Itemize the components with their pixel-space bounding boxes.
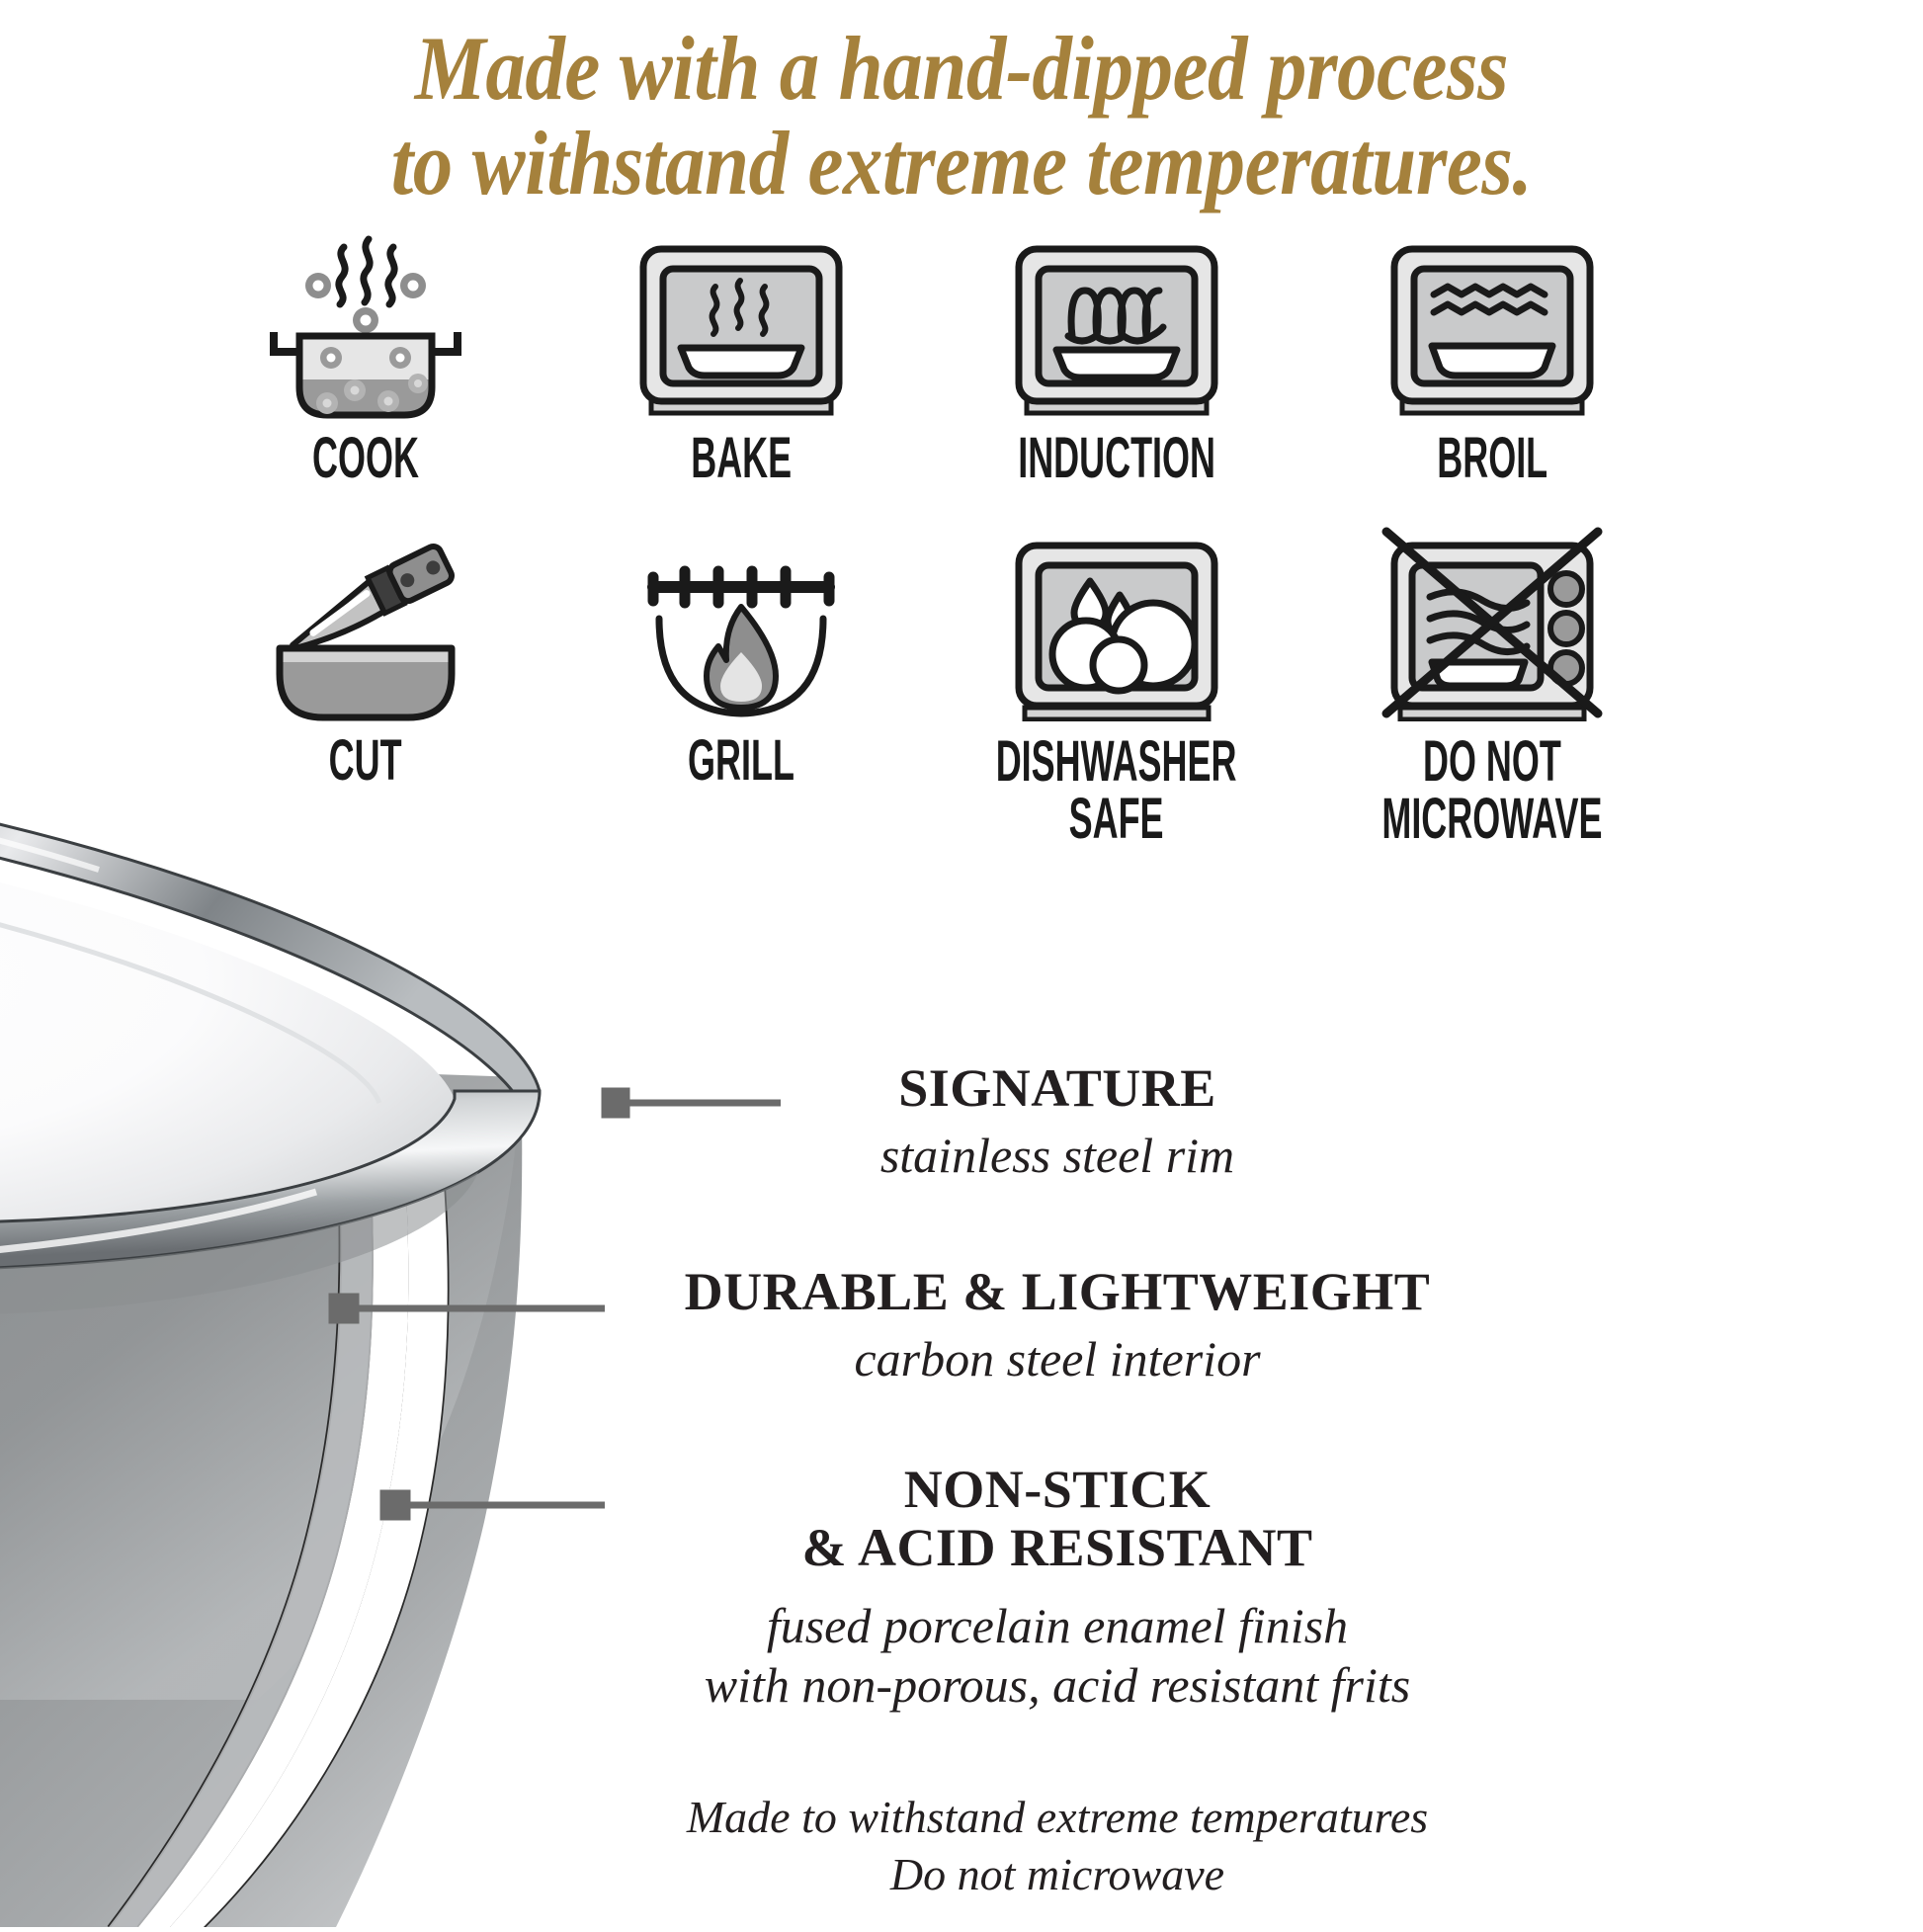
callout-signature: SIGNATURE stainless steel rim [751, 1059, 1364, 1185]
feature-cook: COOK [178, 229, 553, 486]
feature-do-not-microwave: DO NOT MICROWAVE [1304, 524, 1680, 848]
feature-dishwasher-safe: DISHWASHER SAFE [929, 524, 1304, 848]
callout-nonstick-subtitle-1: fused porcelain enamel finish [613, 1596, 1502, 1655]
broil-icon [1379, 229, 1606, 419]
induction-label: INDUCTION [1018, 431, 1215, 486]
headline-line-1: Made with a hand-dipped process [415, 18, 1508, 119]
feature-induction: INDUCTION [929, 229, 1304, 486]
callout-nonstick: NON-STICK & ACID RESISTANT fused porcela… [613, 1461, 1502, 1715]
bake-icon [627, 229, 855, 419]
cook-icon [252, 229, 479, 419]
callout-durable: DURABLE & LIGHTWEIGHT carbon steel inter… [613, 1263, 1502, 1388]
page-title: Made with a hand-dipped process to withs… [116, 22, 1807, 210]
callout-nonstick-title-2: & ACID RESISTANT [613, 1519, 1502, 1577]
disclaimer-line-1: Made to withstand extreme temperatures [613, 1789, 1502, 1846]
callout-nonstick-title-1: NON-STICK [613, 1461, 1502, 1519]
callout-durable-title: DURABLE & LIGHTWEIGHT [613, 1263, 1502, 1321]
broil-label: BROIL [1437, 431, 1547, 486]
feature-bake: BAKE [553, 229, 929, 486]
callout-durable-subtitle: carbon steel interior [613, 1329, 1502, 1388]
bake-label: BAKE [691, 431, 792, 486]
dishwasher-safe-icon [1003, 524, 1230, 721]
infographic-root: Made with a hand-dipped process to withs… [0, 0, 1923, 1923]
callout-nonstick-subtitle-2: with non-porous, acid resistant frits [613, 1655, 1502, 1715]
disclaimer-line-2: Do not microwave [613, 1846, 1502, 1903]
callout-signature-title: SIGNATURE [751, 1059, 1364, 1118]
cook-label: COOK [312, 431, 419, 486]
feature-broil: BROIL [1304, 229, 1680, 486]
headline-line-2: to withstand extreme temperatures. [116, 117, 1807, 211]
disclaimer: Made to withstand extreme temperatures D… [613, 1789, 1502, 1902]
do-not-microwave-icon [1379, 524, 1606, 721]
icon-row-1: COOK BA [178, 229, 1680, 486]
do-not-microwave-label: DO NOT MICROWAVE [1381, 733, 1602, 848]
induction-icon [1003, 229, 1230, 419]
callout-signature-subtitle: stainless steel rim [751, 1126, 1364, 1185]
dishwasher-safe-label: DISHWASHER SAFE [996, 733, 1237, 848]
